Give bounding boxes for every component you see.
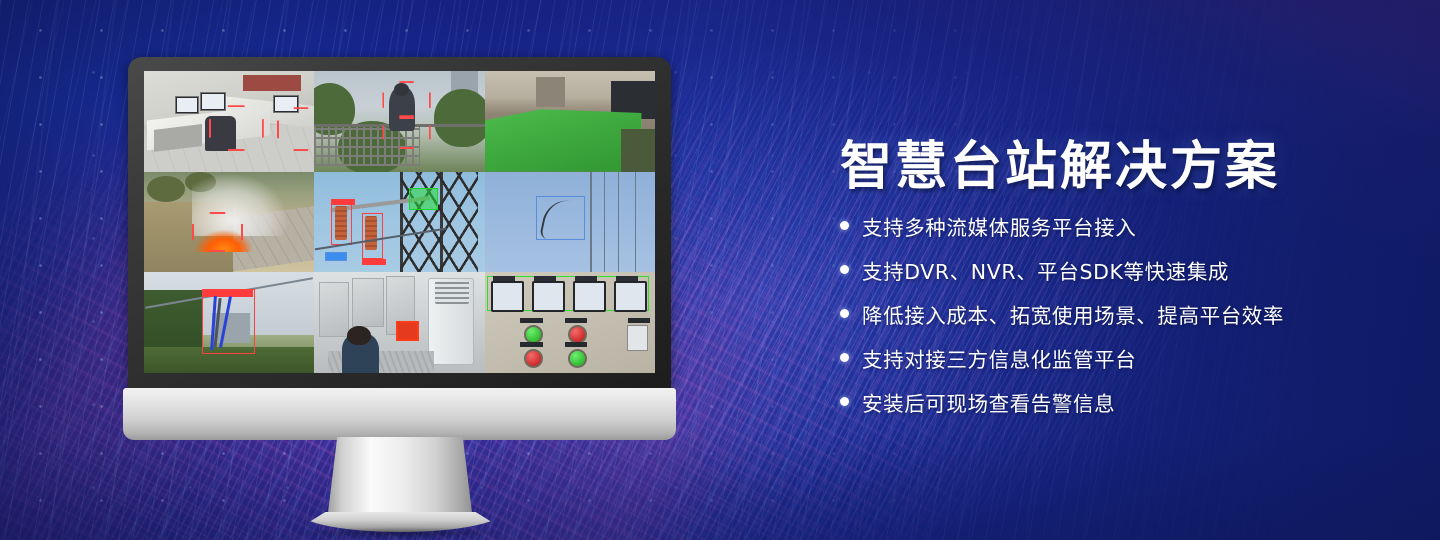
bullet-dot-icon — [840, 265, 849, 274]
solution-banner: 智慧台站解决方案 支持多种流媒体服务平台接入 支持DVR、NVR、平台SDK等快… — [0, 0, 1440, 540]
page-title: 智慧台站解决方案 — [840, 140, 1400, 195]
panel-switch[interactable] — [627, 325, 648, 351]
detection-bracket-fire — [192, 212, 244, 252]
wire-1 — [590, 172, 592, 273]
camera-tile-fence-intrusion[interactable] — [314, 71, 484, 172]
analog-gauge-1 — [491, 281, 524, 311]
detection-label-b — [362, 259, 386, 265]
analog-gauge-4 — [614, 281, 647, 311]
analog-gauge-2 — [532, 281, 565, 311]
screen-monitor-a — [175, 96, 199, 114]
ac-vent-grille — [435, 281, 469, 303]
vegetation — [621, 129, 655, 171]
list-item: 降低接入成本、拓宽使用场景、提高平台效率 — [840, 299, 1400, 329]
bullet-dot-icon — [840, 309, 849, 318]
list-item: 支持多种流媒体服务平台接入 — [840, 211, 1400, 241]
camera-tile-control-panel[interactable] — [485, 272, 655, 373]
surveillance-video-wall[interactable] — [144, 71, 655, 373]
indicator-button-red-2[interactable] — [524, 349, 543, 368]
detection-box-flame-indicator — [396, 321, 419, 341]
back-wall — [243, 75, 301, 91]
wire-2 — [604, 172, 606, 273]
detection-box-blue — [325, 252, 347, 261]
tree-right — [434, 89, 485, 147]
list-item: 支持DVR、NVR、平台SDK等快速集成 — [840, 255, 1400, 285]
camera-tile-power-line-sky[interactable] — [485, 172, 655, 273]
detection-bracket-lower — [382, 115, 430, 149]
detection-label-a — [331, 199, 355, 205]
camera-tile-pole-tilt[interactable] — [144, 272, 314, 373]
feature-text: 安装后可现场查看告警信息 — [862, 387, 1115, 417]
equipment-rack-b — [352, 278, 385, 326]
camera-tile-yard-area-segmentation[interactable] — [485, 71, 655, 172]
switch-tag — [628, 318, 650, 323]
analog-gauge-3 — [573, 281, 606, 311]
worker-head — [347, 326, 371, 345]
feature-text: 降低接入成本、拓宽使用场景、提高平台效率 — [862, 299, 1284, 329]
bullet-dot-icon — [840, 397, 849, 406]
camera-tile-equipment-room[interactable] — [314, 272, 484, 373]
detection-box-hanging-object — [536, 196, 586, 240]
detection-box-insulator-a — [331, 203, 352, 245]
camera-tile-office-control-room[interactable] — [144, 71, 314, 172]
desktop-monitor — [123, 57, 676, 497]
detection-bracket-secondary — [277, 107, 314, 151]
screen-monitor-b — [200, 92, 226, 111]
bullet-dot-icon — [840, 353, 849, 362]
feature-list: 支持多种流媒体服务平台接入 支持DVR、NVR、平台SDK等快速集成 降低接入成… — [840, 211, 1400, 417]
button-tag-1 — [520, 318, 542, 323]
camera-tile-transmission-tower[interactable] — [314, 172, 484, 273]
segmentation-mask-green — [485, 109, 642, 171]
list-item: 安装后可现场查看告警信息 — [840, 387, 1400, 417]
feature-text: 支持多种流媒体服务平台接入 — [862, 211, 1136, 241]
wire-3 — [618, 172, 620, 273]
feature-text: 支持对接三方信息化监管平台 — [862, 343, 1136, 373]
detection-box-insulator-b — [362, 213, 383, 259]
button-tag-3 — [520, 342, 542, 347]
equipment-rack-a — [319, 282, 348, 336]
equipment-shed — [536, 77, 565, 107]
tree-a — [147, 176, 184, 202]
monitor-stand-neck — [327, 437, 473, 521]
detection-mask-foreign-object — [410, 189, 437, 209]
banner-content: 智慧台站解决方案 支持多种流媒体服务平台接入 支持DVR、NVR、平台SDK等快… — [840, 140, 1400, 431]
button-tag-4 — [565, 342, 587, 347]
monitor-base-shadow — [291, 527, 511, 539]
detection-bracket-person — [209, 105, 264, 151]
feature-text: 支持DVR、NVR、平台SDK等快速集成 — [862, 255, 1229, 285]
wire-4 — [635, 172, 637, 273]
monitor-chin — [123, 388, 676, 440]
monitor-display — [177, 98, 197, 112]
list-item: 支持对接三方信息化监管平台 — [840, 343, 1400, 373]
indicator-button-green-2[interactable] — [568, 349, 587, 368]
detection-bracket-upper — [382, 81, 430, 119]
lattice-tower — [400, 172, 478, 273]
monitor-display — [202, 94, 224, 109]
camera-tile-field-fire[interactable] — [144, 172, 314, 273]
button-tag-2 — [565, 318, 587, 323]
bullet-dot-icon — [840, 221, 849, 230]
